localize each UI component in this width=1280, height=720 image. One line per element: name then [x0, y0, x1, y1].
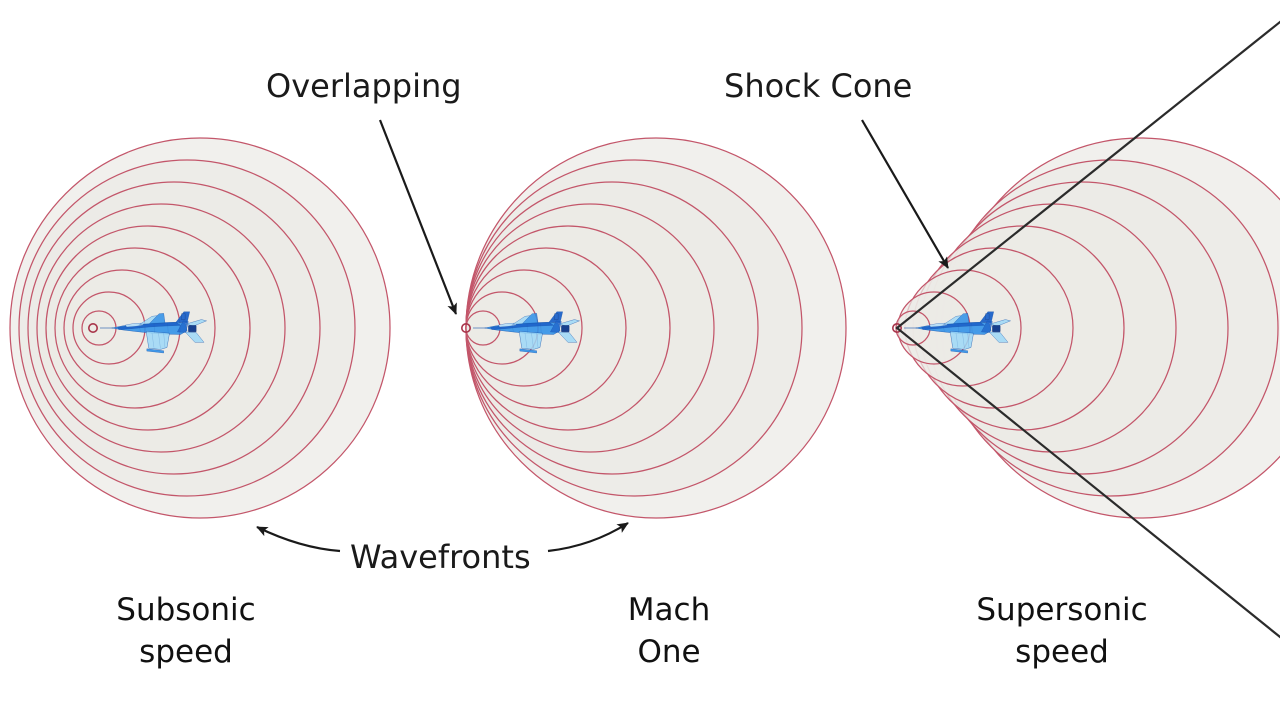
label-subsonic-line1: Subsonic — [116, 592, 255, 628]
wavefronts-callout-arrow-right — [548, 523, 628, 551]
label-supersonic-line2: speed — [1015, 634, 1109, 670]
label-shock-cone: Shock Cone — [724, 67, 912, 105]
label-subsonic-line2: speed — [139, 634, 233, 670]
wavefront-group-subsonic — [10, 138, 390, 518]
diagram-canvas: Overlapping Shock Cone Wavefronts Subson… — [0, 0, 1280, 720]
panel-supersonic — [893, 18, 1280, 641]
label-mach-one-line2: One — [637, 634, 700, 670]
label-mach-one-line1: Mach — [628, 592, 710, 628]
wavefronts-callout-arrow-left — [257, 527, 340, 551]
panel-mach-one — [462, 138, 846, 518]
label-overlapping: Overlapping — [266, 67, 462, 105]
label-wavefronts: Wavefronts — [350, 538, 531, 576]
overlapping-callout-arrow — [380, 120, 456, 314]
panel-subsonic — [10, 138, 390, 518]
sonic-wavefront-diagram: Overlapping Shock Cone Wavefronts Subson… — [0, 0, 1280, 720]
shock-cone-callout-arrow — [862, 120, 948, 268]
label-supersonic-line1: Supersonic — [976, 592, 1147, 628]
